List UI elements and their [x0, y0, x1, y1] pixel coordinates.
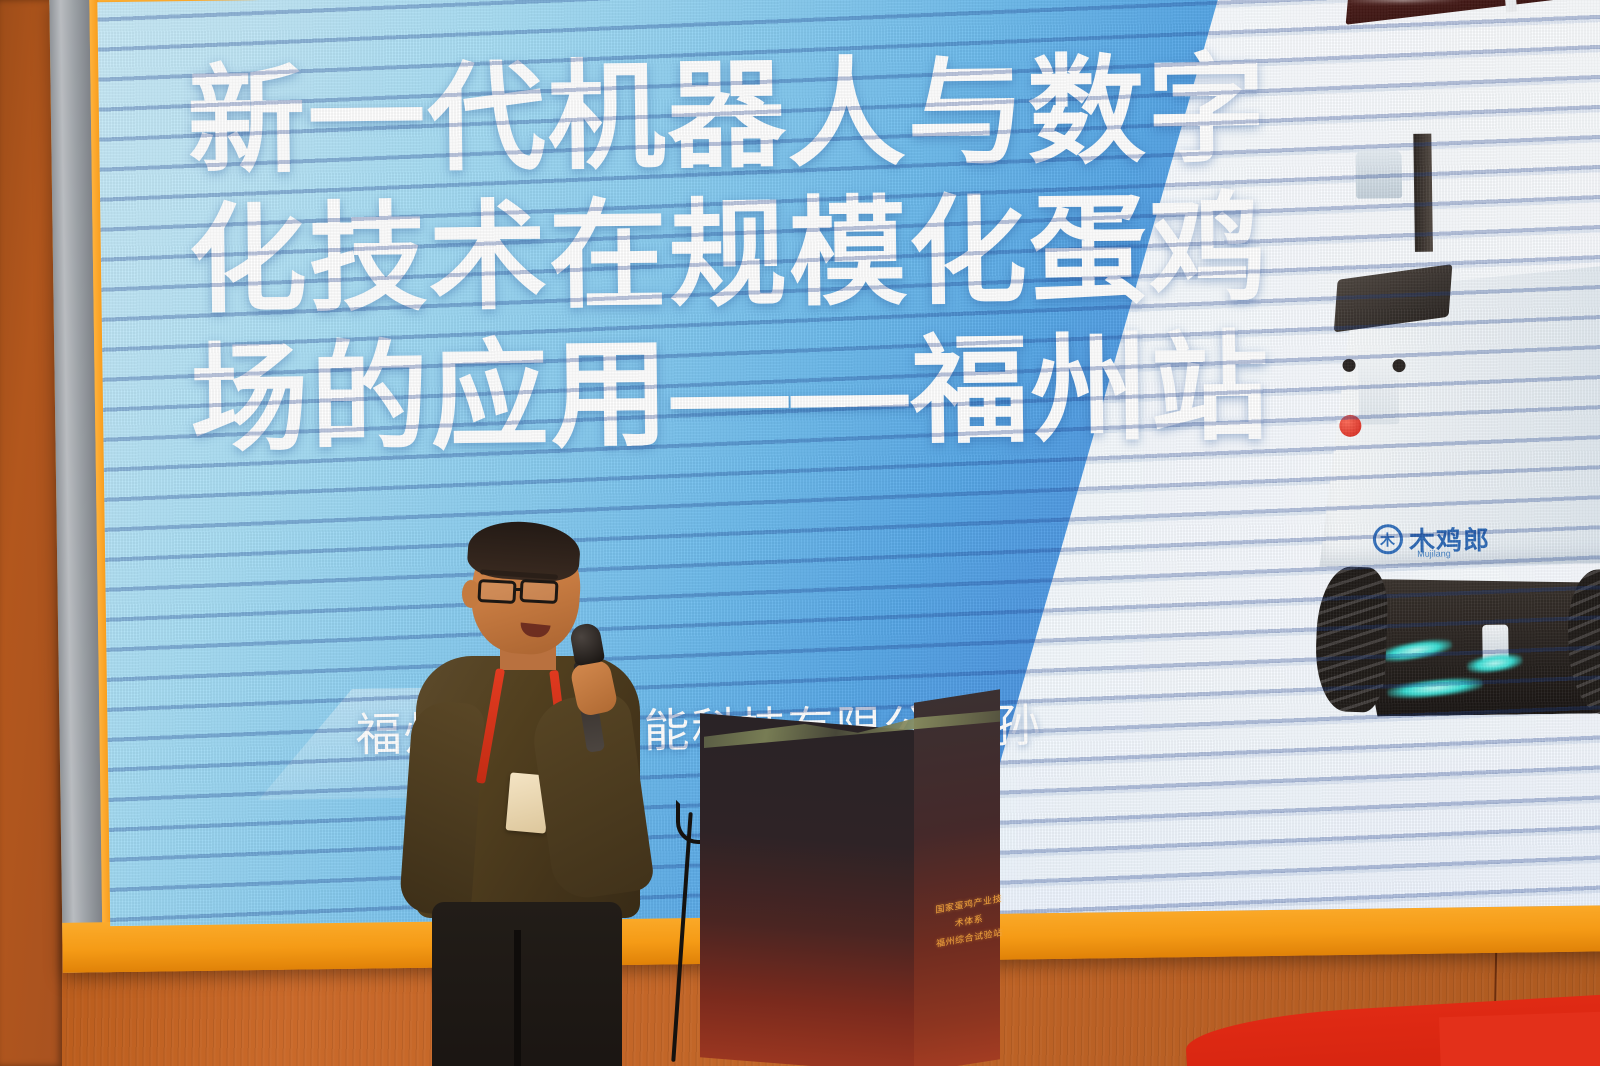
robot-tire-left: [1314, 566, 1390, 714]
microphone-icon: [569, 622, 605, 667]
podium-side-face: [914, 689, 1000, 1066]
robot-brand-logo: 木 木鸡郎 Mujilang: [1373, 517, 1524, 559]
speaker-glasses-left-lens-icon: [477, 579, 516, 604]
podium-front-face: [700, 713, 922, 1066]
red-carpet-edge: [1439, 1011, 1600, 1066]
slide-title: 新一代机器人与数字 化技术在规模化蛋鸡 场的应用——福州站: [187, 39, 1472, 471]
robot-top-panel: [1346, 0, 1569, 25]
robot-tire-tread: [1565, 568, 1600, 716]
speaker-left-arm: [399, 700, 486, 917]
robot-logo-mark-icon: 木: [1373, 524, 1403, 554]
presentation-photo-scene: 木 木鸡郎 Mujilang 新一代机器人与数字 化技术在规模化蛋鸡 场的应用—…: [0, 0, 1600, 1066]
speaker-trouser-seam: [514, 930, 521, 1066]
podium: 国家蛋鸡产业技术体系 福州综合试验站: [700, 700, 1000, 1066]
speaker: [414, 520, 644, 1066]
robot-tire-tread: [1314, 566, 1390, 714]
speaker-trousers: [432, 902, 622, 1066]
speaker-glasses-right-lens-icon: [519, 579, 558, 604]
robot-tire-right: [1565, 568, 1600, 716]
speaker-glasses-bridge: [515, 588, 523, 591]
robot-logo-subtext: Mujilang: [1417, 548, 1451, 558]
